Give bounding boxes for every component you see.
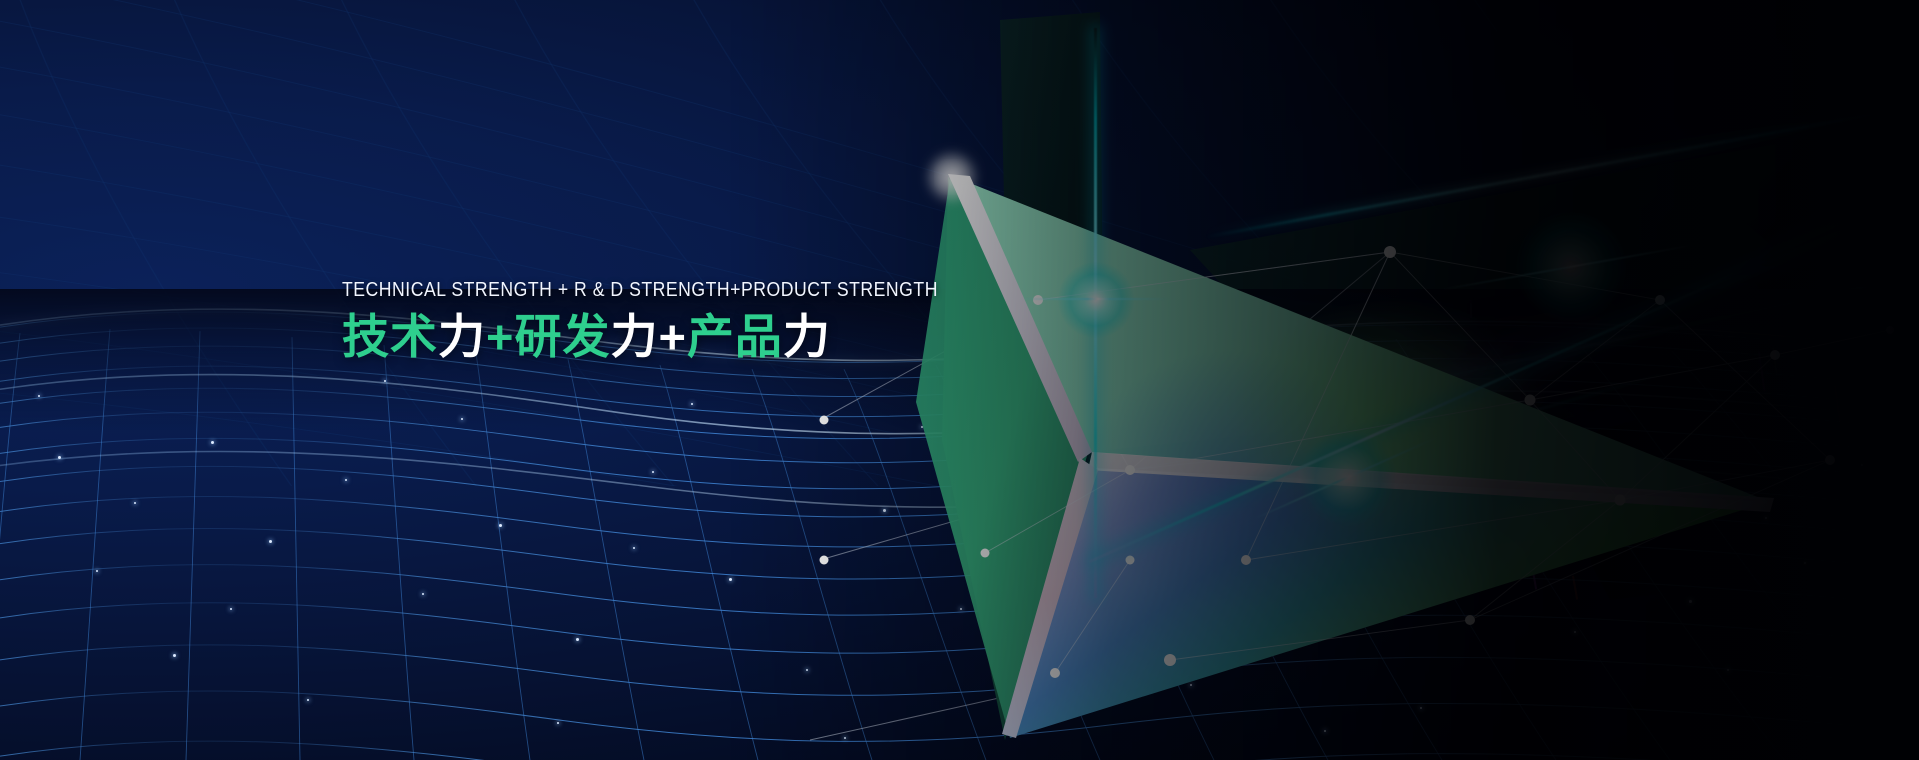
arrow-back-fin (942, 176, 1080, 740)
wave-right-fade (1267, 289, 1919, 760)
hero-3d-arrow-graphic (830, 0, 1919, 760)
arrow-lower-face (1010, 468, 1768, 738)
arrow-rim-lower-left (1002, 458, 1098, 738)
headline-seg-5: + (658, 310, 686, 363)
hero-banner: TECHNICAL STRENGTH + R & D STRENGTH+PROD… (0, 0, 1919, 760)
diagonal-flare-core (1300, 430, 1396, 526)
headline-seg-2: + (486, 310, 514, 363)
arrow-rim-center (1088, 452, 1774, 512)
headline-seg-1: 力 (438, 310, 486, 363)
particle-field (0, 0, 1919, 760)
beam-flare-streak (1020, 298, 1170, 300)
diagonal-cyan-beam (1089, 227, 1839, 563)
headline-text: 技术力+研发力+产品力 (342, 311, 1035, 364)
vertical-cyan-beam (1094, 28, 1097, 598)
background-perspective-grid (0, 0, 1497, 486)
headline-seg-3: 研发 (514, 310, 610, 363)
headline-seg-0: 技术 (342, 310, 438, 363)
headline-seg-6: 产品 (687, 310, 783, 363)
network-links-front (985, 252, 1890, 673)
background-geometric-slabs (0, 0, 1919, 760)
arrow-top-face (952, 176, 1765, 500)
headline-seg-4: 力 (610, 310, 658, 363)
diagonal-flare-streak (1254, 436, 1438, 519)
right-vignette (0, 0, 1919, 760)
beam-flare-core (1058, 262, 1134, 338)
headline-seg-7: 力 (783, 310, 831, 363)
upper-right-flare-streak (1442, 243, 1698, 290)
eyebrow-text: TECHNICAL STRENGTH + R & D STRENGTH+PROD… (342, 278, 938, 302)
upper-right-flare-core (1516, 212, 1626, 322)
headline-block: TECHNICAL STRENGTH + R & D STRENGTH+PROD… (342, 278, 1035, 364)
